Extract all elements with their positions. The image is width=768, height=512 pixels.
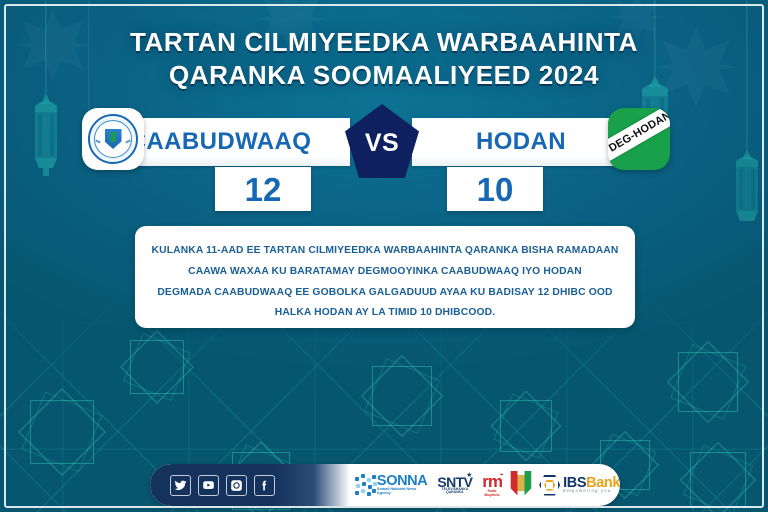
sonna-logo: SONNA Somali National News Agency <box>354 474 428 496</box>
page-title: TARTAN CILMIYEEDKA WARBAAHINTA QARANKA S… <box>0 26 768 92</box>
radio-muqdisho-logo: ◓ rm Radio Muqdisho <box>481 473 502 496</box>
youtube-icon[interactable] <box>198 475 219 496</box>
circular-crest-emblem-icon <box>88 114 138 164</box>
sponsor-logos: SONNA Somali National News Agency ★ SNTV… <box>350 464 620 506</box>
signal-wave-icon: ◓ <box>500 472 504 479</box>
rosette-ornament-icon <box>690 452 746 508</box>
social-links-strip <box>150 464 350 506</box>
away-team-score: 10 <box>447 167 543 211</box>
radio-muqdisho-tagline: Radio Muqdisho <box>481 490 502 496</box>
home-team-logo <box>82 108 144 170</box>
summary-card: KULANKA 11-AAD EE TARTAN CILMIYEEDKA WAR… <box>135 226 635 328</box>
rosette-ornament-icon <box>678 352 738 412</box>
title-line-2: QARANKA SOOMAALIYEED 2024 <box>0 59 768 92</box>
versus-label: VS <box>365 129 399 158</box>
summary-line-4: HALKA HODAN AY LA TIMID 10 DHIBCOOD. <box>151 303 619 324</box>
twitter-icon[interactable] <box>170 475 191 496</box>
rosette-ornament-icon <box>372 366 432 426</box>
summary-line-3: DEGMADA CAABUDWAAQ EE GOBOLKA GALGADUUD … <box>151 283 619 304</box>
poster-canvas: TARTAN CILMIYEEDKA WARBAAHINTA QARANKA S… <box>0 0 768 512</box>
away-score-value: 10 <box>477 173 514 206</box>
summary-line-2: CAAWA WAXAA KU BARATAMAY DEGMOOYINKA CAA… <box>151 262 619 283</box>
home-team-name: CAABUDWAAQ <box>129 128 312 156</box>
government-crest-icon <box>510 471 532 499</box>
away-team-band: HODAN <box>412 118 624 166</box>
sntv-tagline: TELEVISHANKA QARANKA <box>435 488 474 495</box>
star-icon: ★ <box>466 472 472 479</box>
footer-bar: SONNA Somali National News Agency ★ SNTV… <box>150 464 620 506</box>
sntv-logo: ★ SNTV TELEVISHANKA QARANKA <box>435 475 474 496</box>
rosette-ornament-icon <box>500 400 552 452</box>
rosette-ornament-icon <box>130 340 184 394</box>
home-team-score: 12 <box>215 167 311 211</box>
facebook-icon[interactable] <box>254 475 275 496</box>
ibs-hexagon-icon <box>539 475 560 496</box>
sonna-tagline: Somali National News Agency <box>377 487 428 495</box>
ibs-tagline: Empowering you <box>563 489 620 493</box>
title-line-1: TARTAN CILMIYEEDKA WARBAAHINTA <box>0 26 768 59</box>
summary-line-1: KULANKA 11-AAD EE TARTAN CILMIYEEDKA WAR… <box>151 241 619 262</box>
instagram-icon[interactable] <box>226 475 247 496</box>
sonna-mark-icon <box>354 474 375 496</box>
home-score-value: 12 <box>245 173 282 206</box>
rosette-ornament-icon <box>30 400 94 464</box>
ibs-bank-logo: IBSBank Empowering you <box>539 475 620 496</box>
deg-hodan-ribbon: DEG-HODAN <box>608 108 670 164</box>
away-team-logo: DEG-HODAN <box>608 108 670 170</box>
deg-hodan-label: DEG-HODAN <box>608 109 670 154</box>
away-team-name: HODAN <box>476 128 566 156</box>
